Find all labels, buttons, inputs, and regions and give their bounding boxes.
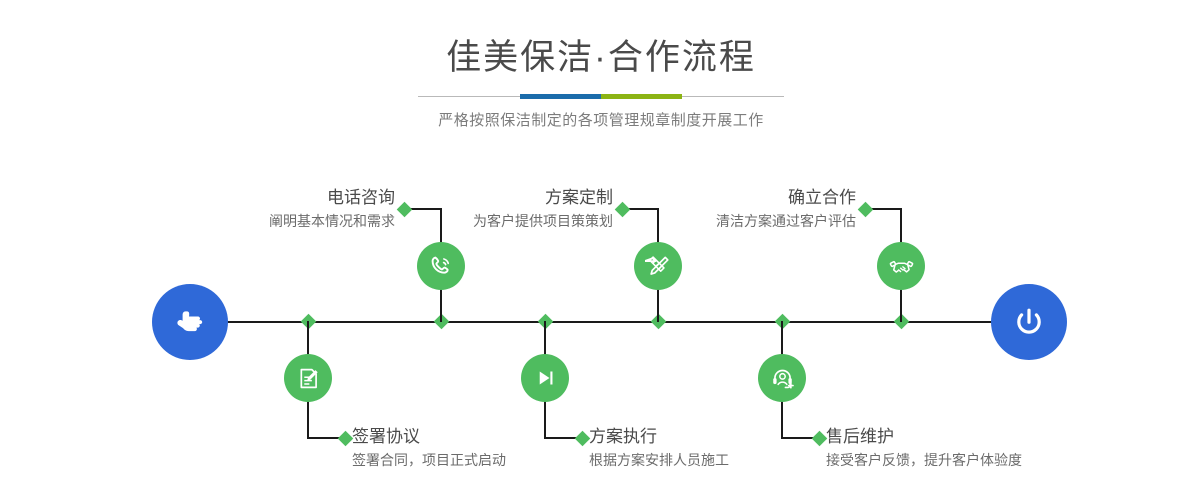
- label-marker-sign-agreement: [338, 431, 354, 447]
- timeline-start-endpoint: [152, 284, 228, 360]
- label-desc: 签署合同，项目正式启动: [352, 450, 612, 470]
- label-sign-agreement: 签署协议 签署合同，项目正式启动: [352, 426, 612, 470]
- play-next-icon: [532, 365, 558, 391]
- phone-call-icon: [427, 252, 455, 280]
- label-plan-customize: 方案定制 为客户提供项目策策划: [370, 187, 613, 231]
- label-desc: 清洁方案通过客户评估: [610, 211, 856, 231]
- timeline-end-endpoint: [991, 284, 1067, 360]
- handshake-icon: [888, 253, 915, 280]
- timeline-node-phone-consult: [417, 242, 465, 290]
- pencil-ruler-icon: [645, 253, 672, 280]
- power-icon: [1009, 302, 1049, 342]
- label-title: 方案定制: [370, 187, 613, 209]
- label-marker-establish-cooperation: [858, 202, 874, 218]
- label-establish-cooperation: 确立合作 清洁方案通过客户评估: [610, 187, 856, 231]
- timeline-node-establish-cooperation: [877, 242, 925, 290]
- label-desc: 阐明基本情况和需求: [150, 211, 395, 231]
- timeline-node-after-sales: [758, 354, 806, 402]
- label-title: 确立合作: [610, 187, 856, 209]
- headset-add-icon: [769, 365, 796, 392]
- timeline-node-plan-execute: [521, 354, 569, 402]
- timeline: 电话咨询 阐明基本情况和需求 签署协议 签署合同，项目正式启动: [0, 0, 1202, 502]
- timeline-node-plan-customize: [634, 242, 682, 290]
- cooperation-flow-infographic: 佳美保洁·合作流程 严格按照保洁制定的各项管理规章制度开展工作: [0, 0, 1202, 502]
- label-title: 售后维护: [826, 426, 1106, 448]
- pointing-hand-icon: [170, 302, 210, 342]
- label-after-sales: 售后维护 接受客户反馈，提升客户体验度: [826, 426, 1106, 470]
- label-desc: 根据方案安排人员施工: [589, 450, 849, 470]
- label-plan-execute: 方案执行 根据方案安排人员施工: [589, 426, 849, 470]
- label-desc: 接受客户反馈，提升客户体验度: [826, 450, 1106, 470]
- label-desc: 为客户提供项目策策划: [370, 211, 613, 231]
- timeline-node-sign-agreement: [284, 354, 332, 402]
- label-phone-consult: 电话咨询 阐明基本情况和需求: [150, 187, 395, 231]
- label-title: 电话咨询: [150, 187, 395, 209]
- document-pen-icon: [295, 365, 322, 392]
